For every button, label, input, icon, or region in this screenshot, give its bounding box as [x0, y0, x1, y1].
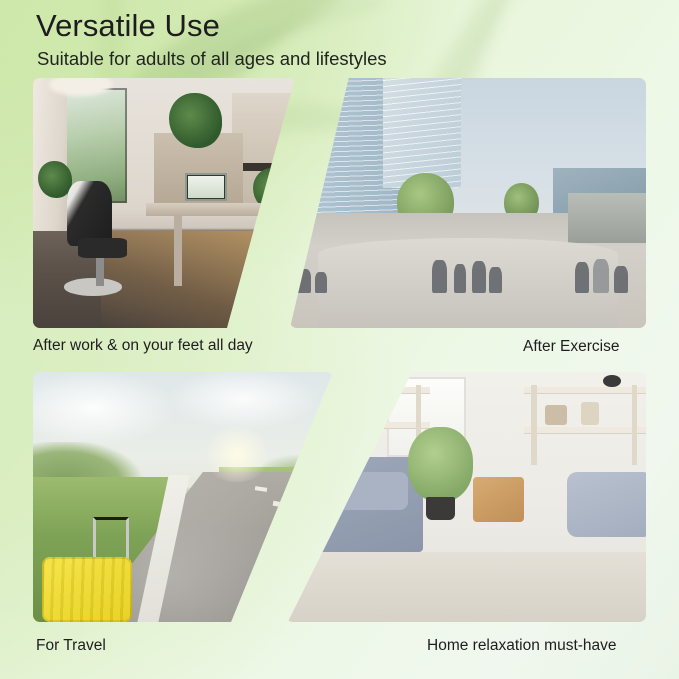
page-subtitle: Suitable for adults of all ages and life… — [37, 48, 387, 70]
home-scene — [286, 372, 646, 622]
office-scene — [33, 78, 295, 328]
caption-exercise: After Exercise — [523, 338, 619, 356]
photo-panel-travel — [33, 372, 333, 622]
photo-panel-home — [286, 372, 646, 622]
versatile-use-infographic: Versatile Use Suitable for adults of all… — [0, 0, 679, 679]
background-crowd — [290, 238, 646, 293]
photo-panel-office — [33, 78, 295, 328]
photo-panel-exercise — [290, 78, 646, 328]
caption-office: After work & on your feet all day — [33, 337, 253, 355]
page-title: Versatile Use — [36, 8, 220, 44]
caption-travel: For Travel — [36, 637, 106, 655]
travel-scene — [33, 372, 333, 622]
exercise-scene — [290, 78, 646, 328]
caption-home: Home relaxation must-have — [427, 637, 617, 655]
yellow-suitcase — [42, 557, 132, 622]
